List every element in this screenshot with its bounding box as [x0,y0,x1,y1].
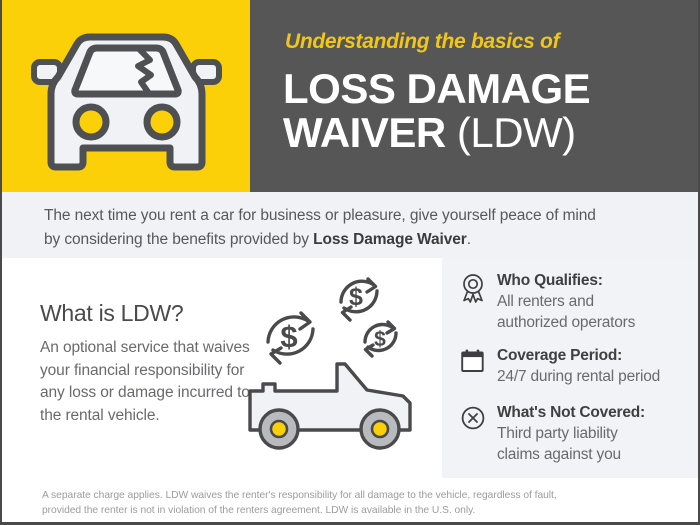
header: Understanding the basics of LOSS DAMAGE … [2,0,700,192]
intro-line2-suffix: . [467,231,471,248]
circle-x-icon [460,403,490,436]
fact-item-coverage-period: Coverage Period: 24/7 during rental peri… [460,346,700,387]
intro-line1: The next time you rent a car for busines… [44,207,596,224]
fact-text-block: Who Qualifies: All renters and authorize… [490,271,700,333]
fact-desc-line1: Third party liability [497,423,700,444]
main-content: What is LDW? An optional service that wa… [2,258,700,483]
fact-title: Who Qualifies: [497,271,700,291]
fact-desc-line2: claims against you [497,444,700,465]
cracked-windshield-car-icon [29,22,224,177]
calendar-icon [460,346,490,379]
fact-desc-line1: All renters and [497,291,700,312]
fact-title: What's Not Covered: [497,403,700,423]
pickup-truck-with-refund-dollars-illustration: $ $ $ [245,268,440,473]
footer-line2: provided the renter is not in violation … [42,505,475,516]
intro-line2-bold: Loss Damage Waiver [313,231,467,248]
page-title-bold: WAIVER [283,109,446,156]
header-dark-block: Understanding the basics of LOSS DAMAGE … [250,0,700,192]
page-title-line1: LOSS DAMAGE [283,66,590,112]
fact-desc-line2: authorized operators [497,312,700,333]
intro-paragraph: The next time you rent a car for busines… [44,204,664,252]
fact-desc-line1: 24/7 during rental period [497,366,700,387]
fact-item-not-covered: What's Not Covered: Third party liabilit… [460,403,700,465]
fact-text-block: What's Not Covered: Third party liabilit… [490,403,700,465]
svg-text:$: $ [280,319,297,354]
header-yellow-block [2,0,250,192]
footer-disclaimer: A separate charge applies. LDW waives th… [2,483,700,525]
header-eyebrow: Understanding the basics of [285,30,559,54]
intro-band: The next time you rent a car for busines… [2,192,700,258]
page-title-line2: WAIVER (LDW) [283,110,576,156]
fact-item-who-qualifies: Who Qualifies: All renters and authorize… [460,271,700,333]
infographic-root: Understanding the basics of LOSS DAMAGE … [0,0,700,525]
fact-title: Coverage Period: [497,346,700,366]
svg-text:$: $ [374,328,386,351]
facts-panel: Who Qualifies: All renters and authorize… [442,258,700,478]
intro-line2-prefix: by considering the benefits provided by [44,231,313,248]
footer-line1: A separate charge applies. LDW waives th… [42,490,557,501]
footer-text: A separate charge applies. LDW waives th… [42,488,667,518]
left-column: What is LDW? An optional service that wa… [40,300,250,427]
left-body-text: An optional service that waives your fin… [40,337,250,427]
page-title-abbrev: (LDW) [457,109,576,156]
award-ribbon-icon [460,271,490,308]
fact-text-block: Coverage Period: 24/7 during rental peri… [490,346,700,387]
svg-text:$: $ [349,283,363,311]
left-heading: What is LDW? [40,300,250,327]
